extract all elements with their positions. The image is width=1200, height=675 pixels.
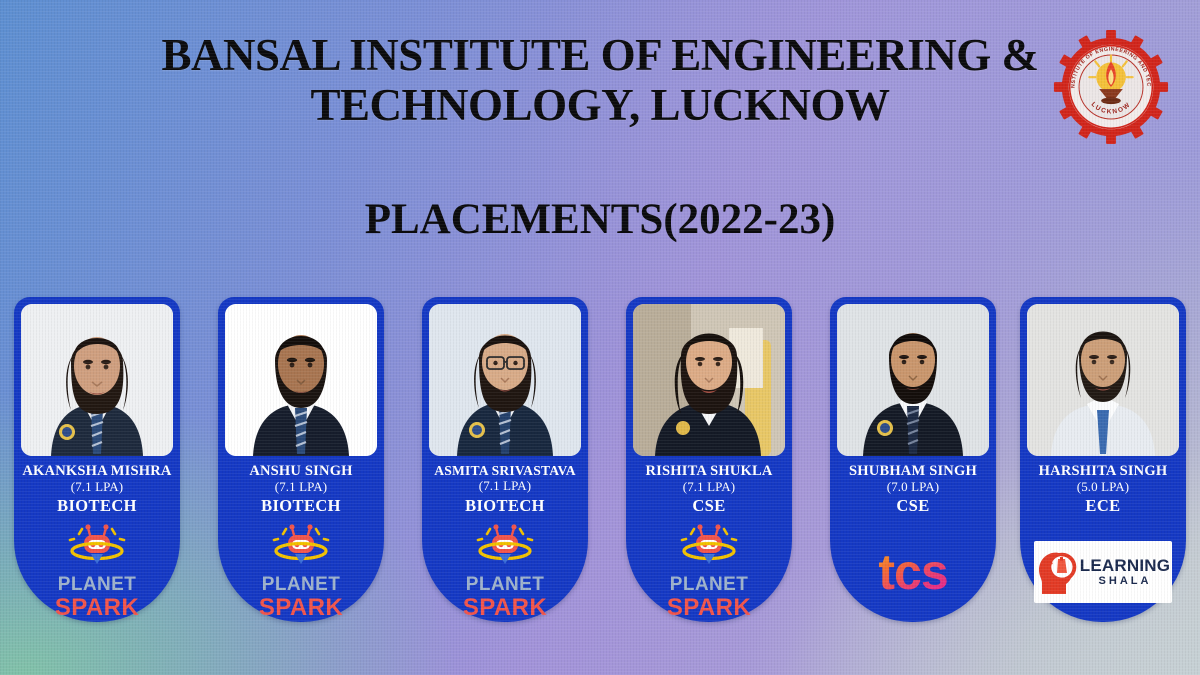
- student-photo: [633, 304, 785, 456]
- student-photo: [225, 304, 377, 456]
- company-logo-planetspark: PLANET SPARK: [218, 529, 384, 615]
- student-name: RISHITA SHUKLA: [629, 464, 789, 479]
- student-package: (5.0 LPA): [1023, 479, 1183, 495]
- company-logo-planetspark: PLANET SPARK: [626, 529, 792, 615]
- student-branch: BIOTECH: [425, 495, 585, 516]
- student-name: AKANKSHA MISHRA: [17, 464, 177, 479]
- student-branch: BIOTECH: [17, 495, 177, 516]
- student-card[interactable]: AKANKSHA MISHRA (7.1 LPA) BIOTECH: [14, 297, 180, 622]
- company-word-1: PLANET: [249, 575, 353, 594]
- company-word-2: SPARK: [657, 595, 761, 620]
- company-logo-planetspark: PLANET SPARK: [14, 529, 180, 615]
- student-info: RISHITA SHUKLA (7.1 LPA) CSE: [629, 464, 789, 517]
- learningshala-head-icon: [1036, 548, 1078, 596]
- student-card[interactable]: ANSHU SINGH (7.1 LPA) BIOTECH: [218, 297, 384, 622]
- student-info: SHUBHAM SINGH (7.0 LPA) CSE: [833, 464, 993, 517]
- company-word-2: SPARK: [45, 595, 149, 620]
- student-info: HARSHITA SINGH (5.0 LPA) ECE: [1023, 464, 1183, 517]
- student-branch: CSE: [629, 495, 789, 516]
- student-cards-row: AKANKSHA MISHRA (7.1 LPA) BIOTECH: [14, 297, 1186, 627]
- planetspark-robot-icon: [678, 523, 740, 569]
- placements-subtitle: PLACEMENTS(2022-23): [0, 195, 1200, 244]
- company-word-1: PLANET: [657, 575, 761, 594]
- student-photo: [837, 304, 989, 456]
- student-info: ANSHU SINGH (7.1 LPA) BIOTECH: [221, 464, 381, 517]
- placement-poster: BANSAL INSTITUTE OF ENGINEERING & TECHNO…: [0, 0, 1200, 675]
- student-card[interactable]: SHUBHAM SINGH (7.0 LPA) CSE tcs: [830, 297, 996, 622]
- student-branch: BIOTECH: [221, 495, 381, 516]
- tcs-wordmark: tcs: [878, 547, 947, 597]
- company-logo-planetspark: PLANET SPARK: [422, 529, 588, 615]
- student-info: AKANKSHA MISHRA (7.1 LPA) BIOTECH: [17, 464, 177, 517]
- student-photo: [429, 304, 581, 456]
- student-info: ASMITA SRIVASTAVA (7.1 LPA) BIOTECH: [425, 464, 585, 516]
- student-name: SHUBHAM SINGH: [833, 464, 993, 479]
- student-name: ANSHU SINGH: [221, 464, 381, 479]
- institute-title: BANSAL INSTITUTE OF ENGINEERING & TECHNO…: [90, 30, 1110, 131]
- company-word-1: PLANET: [45, 575, 149, 594]
- company-word-2: SPARK: [249, 595, 353, 620]
- student-package: (7.1 LPA): [425, 478, 585, 494]
- company-word-1: PLANET: [453, 575, 557, 594]
- company-word-2: SPARK: [453, 595, 557, 620]
- student-photo: [1027, 304, 1179, 456]
- planetspark-robot-icon: [66, 523, 128, 569]
- student-name: ASMITA SRIVASTAVA: [425, 464, 585, 478]
- student-branch: CSE: [833, 495, 993, 516]
- company-word-2: SHALA: [1080, 576, 1170, 587]
- student-package: (7.1 LPA): [221, 479, 381, 495]
- company-word-1: LEARNING: [1080, 557, 1170, 574]
- student-card[interactable]: RISHITA SHUKLA (7.1 LPA) CSE: [626, 297, 792, 622]
- student-name: HARSHITA SINGH: [1023, 464, 1183, 479]
- student-branch: ECE: [1023, 495, 1183, 516]
- poster-header: BANSAL INSTITUTE OF ENGINEERING & TECHNO…: [0, 30, 1200, 131]
- company-logo-learningshala: LEARNING SHALA: [1020, 529, 1186, 615]
- student-package: (7.1 LPA): [629, 479, 789, 495]
- student-card[interactable]: HARSHITA SINGH (5.0 LPA) ECE: [1020, 297, 1186, 622]
- planetspark-robot-icon: [474, 523, 536, 569]
- college-crest-logo: BANSAL INSTITUTE OF ENGINEERING AND TECH…: [1052, 28, 1170, 146]
- student-card[interactable]: ASMITA SRIVASTAVA (7.1 LPA) BIOTECH: [422, 297, 588, 622]
- student-photo: [21, 304, 173, 456]
- company-logo-tcs: tcs: [830, 529, 996, 615]
- student-package: (7.0 LPA): [833, 479, 993, 495]
- student-package: (7.1 LPA): [17, 479, 177, 495]
- planetspark-robot-icon: [270, 523, 332, 569]
